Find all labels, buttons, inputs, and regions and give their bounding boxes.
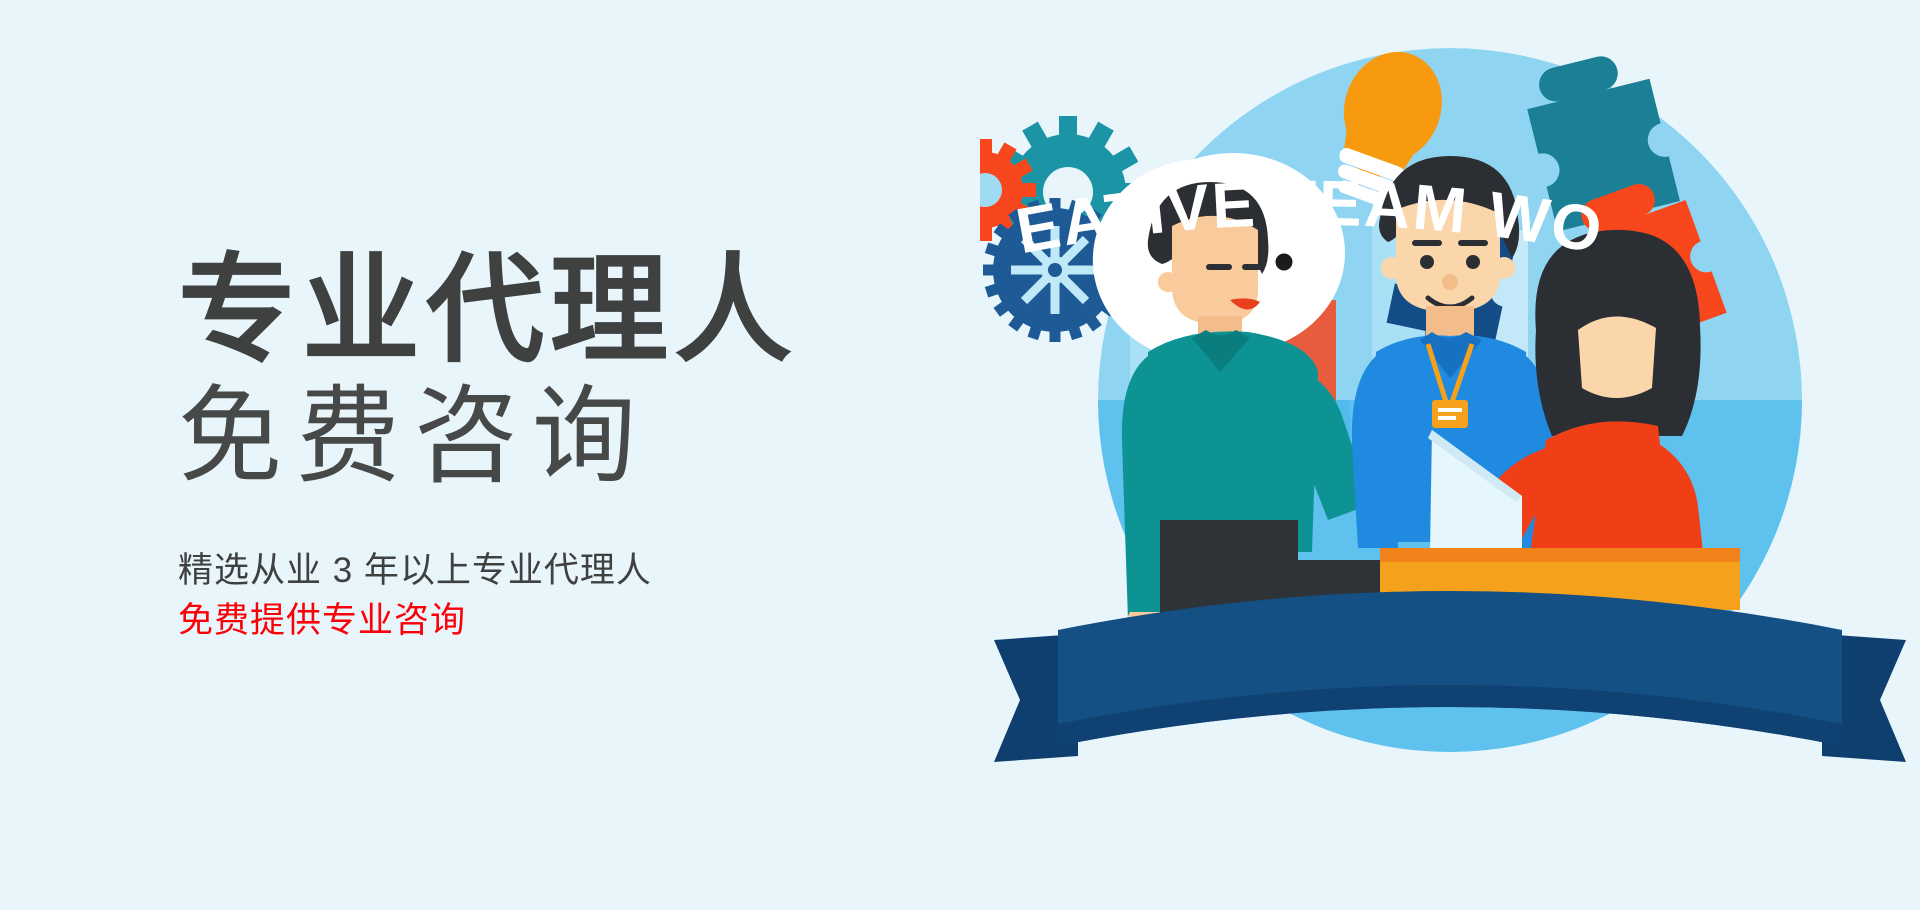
copy-block: 专业代理人 免费咨询 精选从业 3 年以上专业代理人 免费提供专业咨询	[178, 252, 898, 646]
creative-team-work-illustration: CREATIVE TEAM WORK	[980, 0, 1920, 910]
body-line-2-accent: 免费提供专业咨询	[178, 596, 898, 646]
body-text-block: 精选从业 3 年以上专业代理人 免费提供专业咨询	[178, 546, 898, 645]
page-subtitle: 免费咨询	[178, 378, 898, 497]
body-line-1: 精选从业 3 年以上专业代理人	[178, 546, 898, 596]
page-title: 专业代理人	[178, 252, 898, 370]
promo-banner: 专业代理人 免费咨询 精选从业 3 年以上专业代理人 免费提供专业咨询	[0, 0, 1920, 910]
